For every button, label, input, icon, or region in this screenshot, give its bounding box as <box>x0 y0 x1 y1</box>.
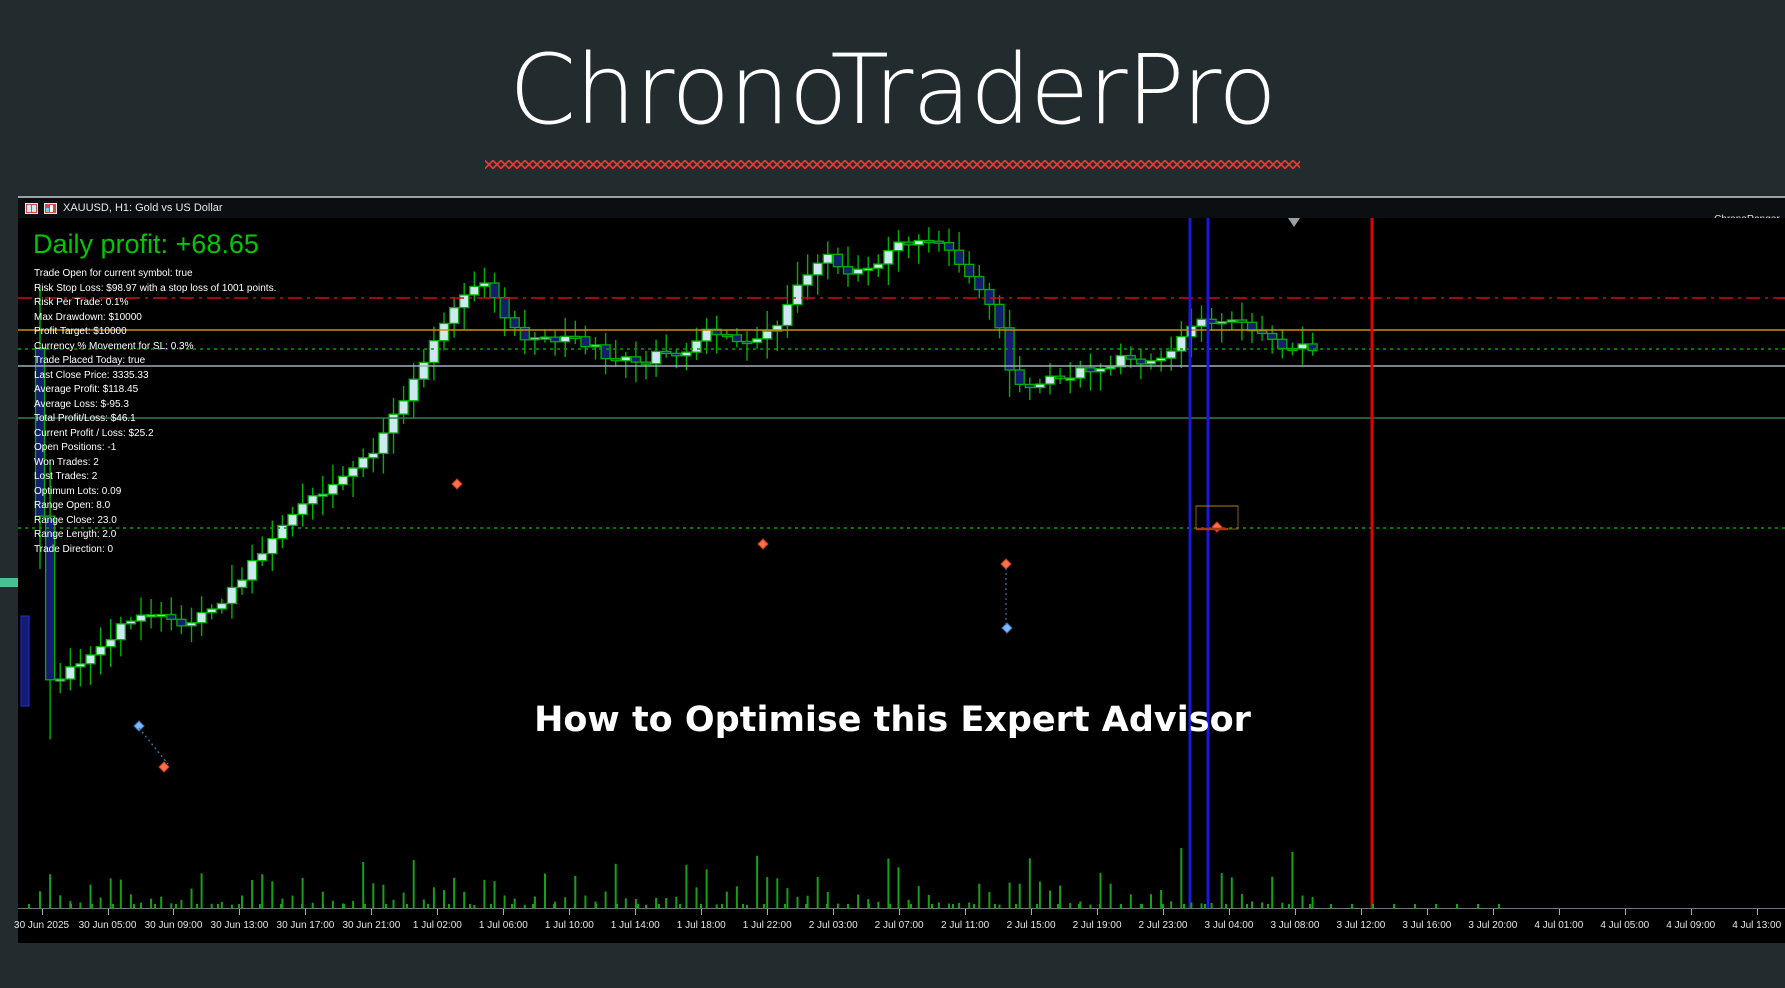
time-axis-minor-tick <box>532 904 534 909</box>
ea-info-line: Total Profit/Loss: $46.1 <box>34 412 454 427</box>
time-axis-tick-label: 1 Jul 18:00 <box>677 920 726 931</box>
time-axis-tick-label: 30 Jun 21:00 <box>342 920 400 931</box>
time-axis-tick-label: 4 Jul 13:00 <box>1732 920 1781 931</box>
time-axis-minor-tick <box>1309 904 1311 909</box>
time-axis-tick-label: 1 Jul 10:00 <box>545 920 594 931</box>
time-axis-minor-tick <box>259 904 261 909</box>
time-axis-minor-tick <box>1036 904 1038 909</box>
page-subtitle: How to Optimise this Expert Advisor <box>0 700 1785 740</box>
time-axis-tick-label: 1 Jul 06:00 <box>479 920 528 931</box>
time-axis-tick-mark <box>899 909 900 915</box>
time-axis-minor-tick <box>1246 904 1248 909</box>
ea-info-line: Optimum Lots: 0.09 <box>34 485 454 500</box>
time-axis-tick-label: 2 Jul 15:00 <box>1007 920 1056 931</box>
time-axis-tick-label: 30 Jun 09:00 <box>145 920 203 931</box>
time-axis-tick-label: 30 Jun 13:00 <box>211 920 269 931</box>
time-axis-minor-tick <box>1120 904 1122 909</box>
time-axis-minor-tick <box>301 904 303 909</box>
time-axis-minor-tick <box>1057 904 1059 909</box>
time-axis-minor-tick <box>742 904 744 909</box>
time-axis-tick-label: 2 Jul 19:00 <box>1073 920 1122 931</box>
time-axis-tick-mark <box>503 909 504 915</box>
bars-icon[interactable] <box>44 203 57 214</box>
time-axis-minor-tick <box>238 904 240 909</box>
time-axis-minor-tick <box>469 904 471 909</box>
time-axis-tick-mark <box>1097 909 1098 915</box>
time-axis-minor-tick <box>70 904 72 909</box>
time-axis-minor-tick <box>427 904 429 909</box>
daily-profit-label: Daily profit: +68.65 <box>33 229 259 260</box>
time-axis-minor-tick <box>1288 904 1290 909</box>
time-axis-minor-tick <box>1183 904 1185 909</box>
time-axis-minor-tick <box>1330 904 1332 909</box>
time-axis-minor-tick <box>364 904 366 909</box>
time-axis-minor-tick <box>994 904 996 909</box>
time-axis-minor-tick <box>574 904 576 909</box>
time-axis-tick-label: 2 Jul 07:00 <box>875 920 924 931</box>
time-axis-tick-mark <box>1493 909 1494 915</box>
time-axis-tick-mark <box>173 909 174 915</box>
time-axis-minor-tick <box>406 904 408 909</box>
time-axis-minor-tick <box>700 904 702 909</box>
time-axis-minor-tick <box>553 904 555 909</box>
time-axis-tick-label: 3 Jul 16:00 <box>1402 920 1451 931</box>
ea-info-line: Trade Open for current symbol: true <box>34 267 454 282</box>
time-axis-minor-tick <box>826 904 828 909</box>
ea-info-line: Average Profit: $118.45 <box>34 383 454 398</box>
time-axis-minor-tick <box>784 904 786 909</box>
time-axis-minor-tick <box>616 904 618 909</box>
time-axis-minor-tick <box>763 904 765 909</box>
ea-info-line: Lost Trades: 2 <box>34 470 454 485</box>
time-axis-tick-label: 3 Jul 20:00 <box>1468 920 1517 931</box>
ea-info-line: Profit Target: $10000 <box>34 325 454 340</box>
time-axis-minor-tick <box>322 904 324 909</box>
time-axis-tick-mark <box>371 909 372 915</box>
time-axis-minor-tick <box>490 904 492 909</box>
ea-info-line: Trade Placed Today: true <box>34 354 454 369</box>
time-axis-tick-mark <box>767 909 768 915</box>
time-axis-tick-label: 4 Jul 05:00 <box>1600 920 1649 931</box>
time-axis-tick-mark <box>1229 909 1230 915</box>
time-axis-tick-mark <box>701 909 702 915</box>
chart-symbol-label: XAUUSD, H1: Gold vs US Dollar <box>63 202 223 214</box>
time-axis-minor-tick <box>868 904 870 909</box>
page-title: ChronoTraderPro <box>0 42 1785 138</box>
time-axis-minor-tick <box>1393 904 1395 909</box>
chart-titlebar: XAUUSD, H1: Gold vs US Dollar <box>18 198 1785 218</box>
time-axis-tick-label: 4 Jul 09:00 <box>1666 920 1715 931</box>
time-axis-minor-tick <box>1435 904 1437 909</box>
time-axis-minor-tick <box>49 904 51 909</box>
time-axis-tick-mark <box>1757 909 1758 915</box>
time-axis-tick-mark <box>1559 909 1560 915</box>
ea-info-line: Current Profit / Loss: $25.2 <box>34 427 454 442</box>
time-axis-minor-tick <box>511 904 513 909</box>
time-axis-minor-tick <box>28 904 30 909</box>
time-axis-tick-label: 4 Jul 01:00 <box>1534 920 1583 931</box>
grid-icon[interactable] <box>25 203 38 214</box>
time-axis-minor-tick <box>721 904 723 909</box>
time-axis-minor-tick <box>1456 904 1458 909</box>
time-axis-tick-mark <box>569 909 570 915</box>
time-axis[interactable]: 30 Jun 202530 Jun 05:0030 Jun 09:0030 Ju… <box>18 908 1785 943</box>
ea-info-line: Trade Direction: 0 <box>34 543 454 558</box>
time-axis-tick-mark <box>305 909 306 915</box>
time-axis-tick-label: 1 Jul 14:00 <box>611 920 660 931</box>
time-axis-tick-mark <box>437 909 438 915</box>
time-axis-minor-tick <box>952 904 954 909</box>
time-axis-tick-mark <box>1163 909 1164 915</box>
time-axis-tick-mark <box>1427 909 1428 915</box>
ea-info-line: Risk Per Trade: 0.1% <box>34 296 454 311</box>
time-axis-tick-mark <box>239 909 240 915</box>
time-axis-minor-tick <box>343 904 345 909</box>
time-axis-tick-mark <box>1691 909 1692 915</box>
time-axis-tick-label: 2 Jul 03:00 <box>809 920 858 931</box>
time-axis-tick-mark <box>42 909 43 915</box>
time-axis-tick-label: 30 Jun 2025 <box>14 920 69 931</box>
time-axis-tick-mark <box>833 909 834 915</box>
time-axis-tick-mark <box>965 909 966 915</box>
time-axis-minor-tick <box>931 904 933 909</box>
time-axis-minor-tick <box>133 904 135 909</box>
time-axis-tick-mark <box>635 909 636 915</box>
ea-info-line: Last Close Price: 3335.33 <box>34 369 454 384</box>
ea-info-line: Average Loss: $-95.3 <box>34 398 454 413</box>
time-axis-tick-label: 3 Jul 08:00 <box>1270 920 1319 931</box>
ea-info-line: Risk Stop Loss: $98.97 with a stop loss … <box>34 282 454 297</box>
time-axis-tick-mark <box>1295 909 1296 915</box>
ea-info-line: Range Length: 2.0 <box>34 528 454 543</box>
time-axis-tick-label: 3 Jul 12:00 <box>1336 920 1385 931</box>
time-axis-tick-label: 3 Jul 04:00 <box>1205 920 1254 931</box>
time-axis-minor-tick <box>112 904 114 909</box>
time-axis-tick-label: 30 Jun 17:00 <box>277 920 335 931</box>
time-axis-minor-tick <box>1477 904 1479 909</box>
time-axis-minor-tick <box>154 904 156 909</box>
time-axis-minor-tick <box>973 904 975 909</box>
time-axis-minor-tick <box>1372 904 1374 909</box>
time-axis-minor-tick <box>175 904 177 909</box>
time-axis-minor-tick <box>637 904 639 909</box>
time-axis-minor-tick <box>1099 904 1101 909</box>
time-axis-minor-tick <box>1267 904 1269 909</box>
mt5-chart-window[interactable]: XAUUSD, H1: Gold vs US Dollar ChronoRang… <box>18 196 1785 943</box>
time-axis-minor-tick <box>196 904 198 909</box>
time-axis-minor-tick <box>595 904 597 909</box>
ea-info-line: Range Close: 23.0 <box>34 514 454 529</box>
time-axis-tick-label: 2 Jul 11:00 <box>941 920 989 931</box>
time-axis-minor-tick <box>1078 904 1080 909</box>
time-axis-minor-tick <box>910 904 912 909</box>
ea-info-panel: Trade Open for current symbol: trueRisk … <box>34 267 454 557</box>
time-axis-minor-tick <box>280 904 282 909</box>
time-axis-tick-label: 30 Jun 05:00 <box>79 920 137 931</box>
time-axis-minor-tick <box>1414 904 1416 909</box>
time-axis-tick-mark <box>1361 909 1362 915</box>
time-axis-minor-tick <box>1351 904 1353 909</box>
slide-canvas: ChronoTraderPro XAUUSD, H1: Gold vs US D… <box>0 0 1785 988</box>
time-axis-minor-tick <box>448 904 450 909</box>
chart-plot-area[interactable]: Daily profit: +68.65 Trade Open for curr… <box>18 218 1785 911</box>
time-axis-tick-label: 2 Jul 23:00 <box>1139 920 1188 931</box>
time-axis-minor-tick <box>1204 904 1206 909</box>
time-axis-minor-tick <box>1015 904 1017 909</box>
time-axis-minor-tick <box>1162 904 1164 909</box>
time-axis-minor-tick <box>91 904 93 909</box>
time-axis-minor-tick <box>805 904 807 909</box>
spellcheck-squiggle-underline <box>485 160 1300 169</box>
time-axis-tick-mark <box>1625 909 1626 915</box>
time-axis-minor-tick <box>1498 904 1500 909</box>
time-axis-tick-label: 1 Jul 02:00 <box>413 920 462 931</box>
time-axis-tick-mark <box>108 909 109 915</box>
time-axis-minor-tick <box>217 904 219 909</box>
time-axis-minor-tick <box>889 904 891 909</box>
time-axis-tick-mark <box>1031 909 1032 915</box>
ea-info-line: Open Positions: -1 <box>34 441 454 456</box>
time-axis-minor-tick <box>679 904 681 909</box>
ea-info-line: Currency % Movement for SL: 0.3% <box>34 340 454 355</box>
time-axis-minor-tick <box>847 904 849 909</box>
time-axis-minor-tick <box>658 904 660 909</box>
time-axis-minor-tick <box>1225 904 1227 909</box>
ea-info-line: Max Drawdown: $10000 <box>34 311 454 326</box>
ea-info-line: Won Trades: 2 <box>34 456 454 471</box>
time-axis-minor-tick <box>1141 904 1143 909</box>
time-axis-minor-tick <box>385 904 387 909</box>
ea-info-line: Range Open: 8.0 <box>34 499 454 514</box>
time-axis-tick-label: 1 Jul 22:00 <box>743 920 792 931</box>
